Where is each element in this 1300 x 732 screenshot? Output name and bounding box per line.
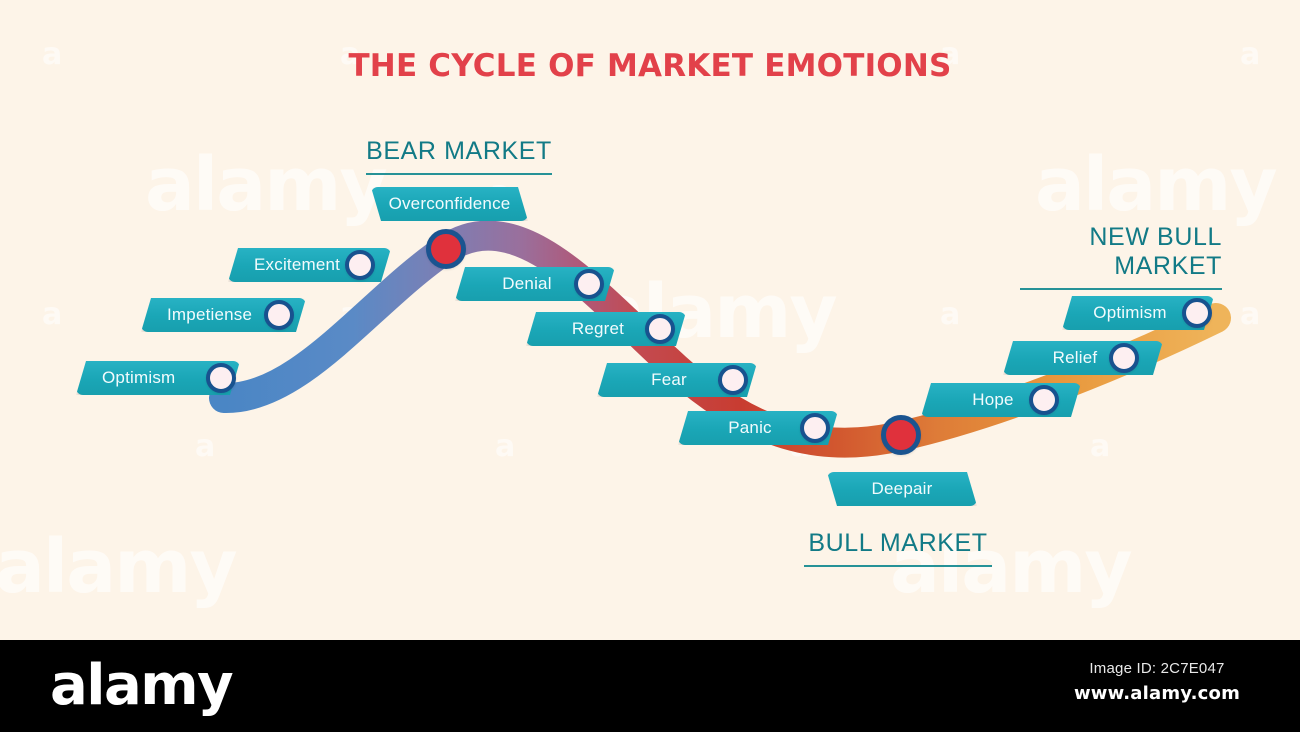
phase-heading-bear-market: BEAR MARKET <box>366 137 552 175</box>
emotion-node-relief-10[interactable] <box>1109 343 1139 373</box>
image-id-label: Image ID: 2C7E047 <box>1032 660 1282 677</box>
emotion-label: Deepair <box>827 472 977 506</box>
emotion-pill-overconfidence-3[interactable]: Overconfidence <box>371 187 528 221</box>
emotion-node-optimism-11[interactable] <box>1182 298 1212 328</box>
phase-underline <box>366 173 552 175</box>
phase-label: BULL MARKET <box>808 529 987 557</box>
phase-label-line2: MARKET <box>1114 252 1222 280</box>
phase-label-line1: NEW BULL <box>1089 223 1222 251</box>
emotion-pill-relief-10[interactable]: Relief <box>1003 341 1163 375</box>
phase-underline <box>804 565 992 567</box>
infographic-canvas: alamy alamy alamy alamy alamy a a a a a … <box>0 0 1300 732</box>
phase-heading-new-bull-market: NEW BULL MARKET <box>1020 223 1222 290</box>
peak-overconfidence-node[interactable] <box>426 229 466 269</box>
emotion-node-panic-7[interactable] <box>800 413 830 443</box>
trough-despair-node[interactable] <box>881 415 921 455</box>
emotion-label: Relief <box>1003 341 1163 375</box>
alamy-footer-bar: alamy Image ID: 2C7E047 www.alamy.com <box>0 640 1300 732</box>
emotion-node-fear-6[interactable] <box>718 365 748 395</box>
emotion-pill-deepair-8[interactable]: Deepair <box>827 472 977 506</box>
emotion-node-optimism-0[interactable] <box>206 363 236 393</box>
emotion-node-impetiense-1[interactable] <box>264 300 294 330</box>
emotion-node-denial-4[interactable] <box>574 269 604 299</box>
phase-underline <box>1020 288 1222 290</box>
alamy-logo: alamy <box>50 658 232 714</box>
emotion-node-hope-9[interactable] <box>1029 385 1059 415</box>
phase-label: BEAR MARKET <box>366 137 552 165</box>
emotion-node-excitement-2[interactable] <box>345 250 375 280</box>
alamy-website-label: www.alamy.com <box>1032 683 1282 704</box>
footer-meta: Image ID: 2C7E047 www.alamy.com <box>1032 660 1282 704</box>
phase-heading-bull-market: BULL MARKET <box>804 529 992 567</box>
page-title: THE CYCLE OF MARKET EMOTIONS <box>0 48 1300 84</box>
emotion-node-regret-5[interactable] <box>645 314 675 344</box>
emotion-label: Overconfidence <box>371 187 528 221</box>
